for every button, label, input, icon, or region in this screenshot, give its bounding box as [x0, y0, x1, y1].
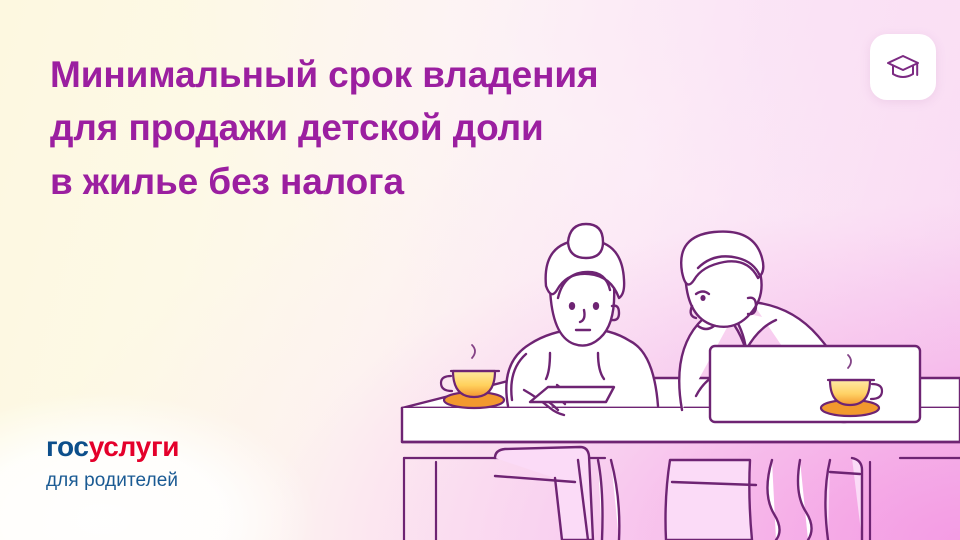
logo-word-gos: гос	[46, 431, 89, 462]
logo-word-uslugi: услуги	[89, 431, 180, 462]
promo-card: Минимальный срок владения для продажи де…	[0, 0, 960, 540]
page-title: Минимальный срок владения для продажи де…	[50, 48, 750, 208]
graduation-cap-icon	[886, 50, 920, 84]
coffee-cup-left	[441, 345, 504, 408]
woman-lower-body	[495, 447, 619, 540]
logo-tagline: для родителей	[46, 470, 179, 492]
logo-wordmark: госуслуги	[46, 433, 179, 461]
man-lower-body	[666, 458, 863, 540]
laptop	[710, 346, 920, 422]
gosuslugi-logo: госуслуги для родителей	[46, 433, 179, 492]
illustration-couple-at-table	[400, 210, 960, 540]
chair-right	[870, 458, 960, 540]
graduation-cap-badge	[870, 34, 936, 100]
